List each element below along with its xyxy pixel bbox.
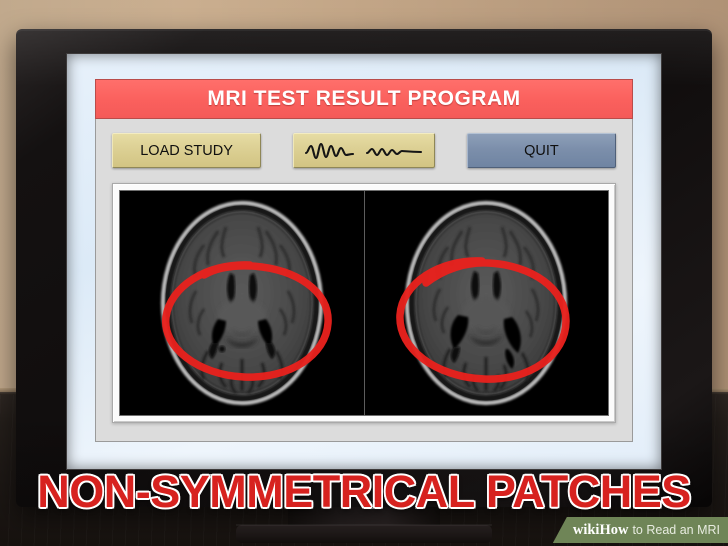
app-toolbar: LOAD STUDY QUIT: [96, 119, 632, 168]
monitor-bezel: MRI TEST RESULT PROGRAM LOAD STUDY: [16, 29, 712, 507]
monitor-stand-highlight: [236, 524, 492, 526]
load-study-button-label: LOAD STUDY: [140, 143, 233, 159]
monitor-screen: MRI TEST RESULT PROGRAM LOAD STUDY: [67, 54, 661, 469]
quit-button-label: QUIT: [524, 143, 559, 159]
app-title-bar: MRI TEST RESULT PROGRAM: [95, 79, 633, 119]
mri-scan-right[interactable]: [364, 191, 609, 415]
mri-scan-left[interactable]: [120, 191, 364, 415]
mri-viewer-frame: [112, 183, 616, 423]
app-title: MRI TEST RESULT PROGRAM: [207, 87, 520, 111]
watermark-subtitle: to Read an MRI: [632, 523, 720, 537]
watermark-wiki: wiki: [573, 522, 600, 539]
watermark-how: How: [599, 522, 628, 539]
mri-application-window: MRI TEST RESULT PROGRAM LOAD STUDY: [95, 79, 633, 441]
waveform-icon: [303, 140, 425, 162]
quit-button[interactable]: QUIT: [467, 133, 616, 168]
caption-text: NON-SYMMETRICAL PATCHES: [0, 469, 728, 514]
waveform-button[interactable]: [293, 133, 435, 168]
mri-image-viewer[interactable]: [119, 190, 609, 416]
app-body: LOAD STUDY QUIT: [95, 119, 633, 442]
wikihow-watermark: wikiHowto Read an MRI: [553, 517, 728, 543]
load-study-button[interactable]: LOAD STUDY: [112, 133, 261, 168]
monitor-stand-base: [236, 525, 492, 543]
scene-root: MRI TEST RESULT PROGRAM LOAD STUDY: [0, 0, 728, 546]
